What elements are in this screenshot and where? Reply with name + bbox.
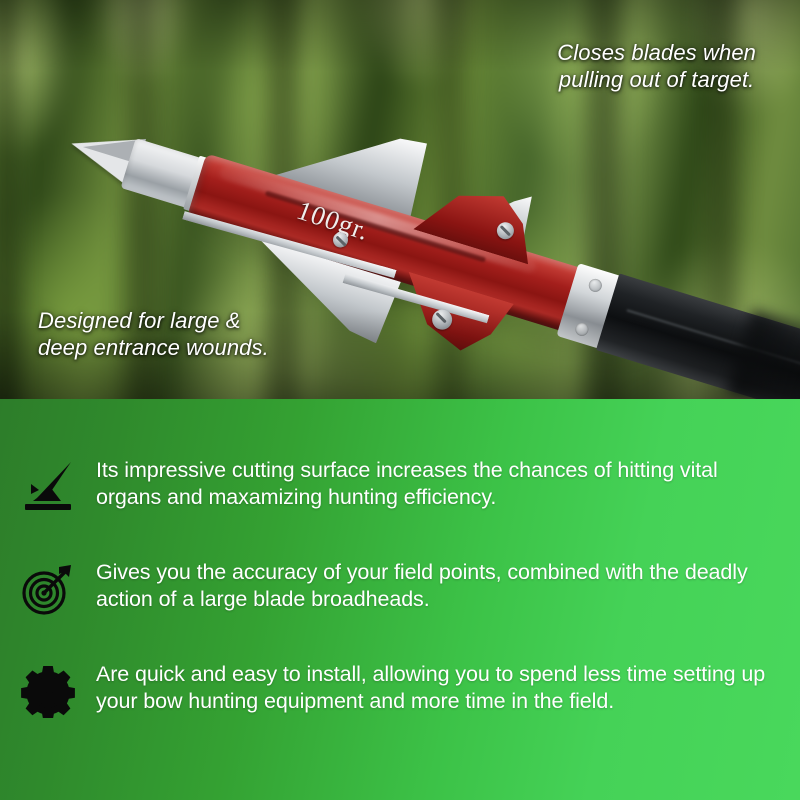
feature-text-3: Are quick and easy to install, allowing … — [96, 661, 786, 715]
hero-photo-panel: 100gr. Closes blades when pulling out of… — [0, 0, 800, 399]
caption-entrance-wounds: Designed for large & deep entrance wound… — [38, 308, 269, 362]
feature-item-3: Are quick and easy to install, allowing … — [20, 661, 800, 719]
feature-text-1: Its impressive cutting surface increases… — [96, 457, 786, 511]
features-panel: Its impressive cutting surface increases… — [0, 399, 800, 800]
blade-cutting-icon — [20, 459, 76, 515]
target-arrow-icon — [20, 561, 76, 617]
feature-text-2: Gives you the accuracy of your field poi… — [96, 559, 786, 613]
caption-closes-blades: Closes blades when pulling out of target… — [557, 40, 756, 94]
product-infographic: 100gr. Closes blades when pulling out of… — [0, 0, 800, 800]
gear-check-icon — [20, 663, 76, 719]
feature-item-1: Its impressive cutting surface increases… — [20, 457, 800, 515]
feature-item-2: Gives you the accuracy of your field poi… — [20, 559, 800, 617]
